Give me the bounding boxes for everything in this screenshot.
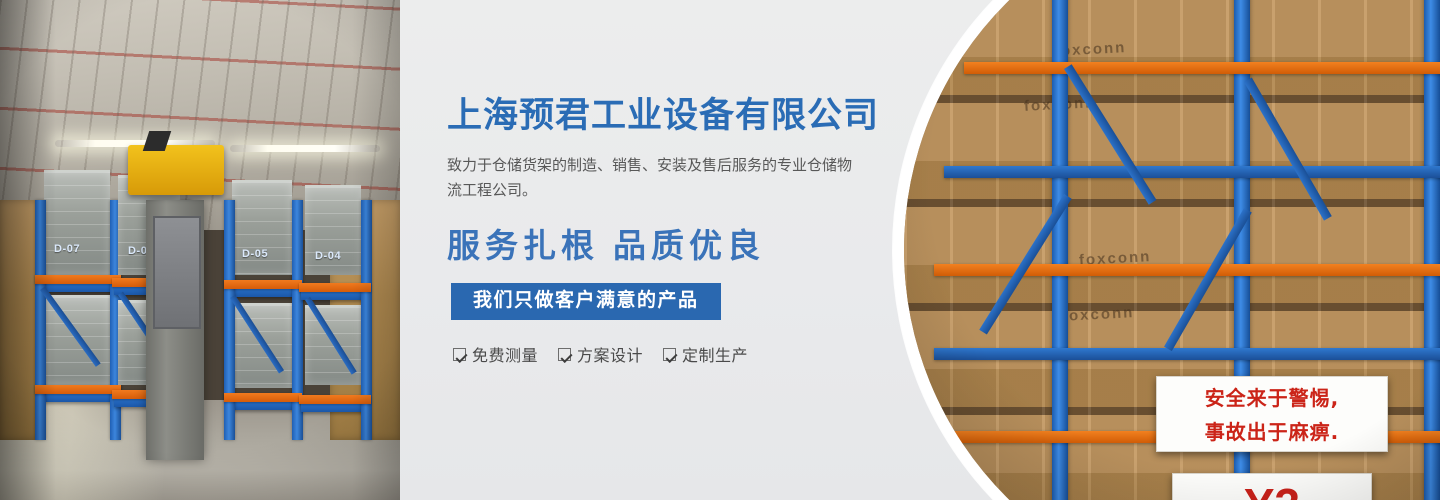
feature-label: 方案设计 <box>577 342 643 366</box>
feature-list: 免费测量 方案设计 定制生产 <box>453 342 917 366</box>
feature-item-free-measure: 免费测量 <box>453 342 538 366</box>
company-title: 上海预君工业设备有限公司 <box>447 96 917 136</box>
rack-label-d04: D-04 <box>315 250 341 262</box>
beam-1a <box>35 275 121 284</box>
feature-label: 免费测量 <box>472 342 538 366</box>
checkbox-check-icon <box>453 348 466 361</box>
slogan-part-2: 品质优良 <box>613 226 765 265</box>
promise-badge: 我们只做客户满意的产品 <box>451 283 721 321</box>
beam-1b <box>35 385 121 394</box>
feature-item-custom-production: 定制生产 <box>663 342 748 366</box>
warehouse-photo-left: D-07 D-06 D-05 <box>0 0 400 500</box>
hero-copy: 上海预君工业设备有限公司 致力于仓储货架的制造、销售、安装及售后服务的专业仓储物… <box>447 96 917 366</box>
upright-3l <box>224 200 235 440</box>
checkbox-check-icon <box>558 348 571 361</box>
rack-label-d05: D-05 <box>242 248 268 260</box>
tote-stack-1 <box>44 170 110 275</box>
rack-label-d07: D-07 <box>54 243 80 255</box>
slogan: 服务扎根品质优良 <box>447 219 917 267</box>
checkbox-check-icon <box>663 348 676 361</box>
upright-1l <box>35 200 46 440</box>
beam-4a <box>299 283 371 292</box>
photo-right-vignette <box>904 0 1440 500</box>
feature-item-plan-design: 方案设计 <box>558 342 643 366</box>
beam-3a <box>224 280 302 289</box>
slogan-part-1: 服务扎根 <box>447 226 599 265</box>
vna-truck-cab <box>128 145 224 195</box>
vna-truck-mast <box>146 200 204 460</box>
feature-label: 定制生产 <box>682 342 748 366</box>
beam-3b <box>224 393 302 402</box>
racking-system: D-07 D-06 D-05 <box>0 0 400 500</box>
warehouse-photo-right: foxconn foxconn foxconn foxconn 安全来于警惕, … <box>904 0 1440 500</box>
hero-banner: D-07 D-06 D-05 <box>0 0 1440 500</box>
warehouse-photo-right-ring: foxconn foxconn foxconn foxconn 安全来于警惕, … <box>893 0 1440 500</box>
company-subtitle: 致力于仓储货架的制造、销售、安装及售后服务的专业仓储物流工程公司。 <box>447 153 863 203</box>
upright-4r <box>361 200 372 440</box>
tote-stack-3 <box>232 180 292 275</box>
beam-4b <box>299 395 371 404</box>
